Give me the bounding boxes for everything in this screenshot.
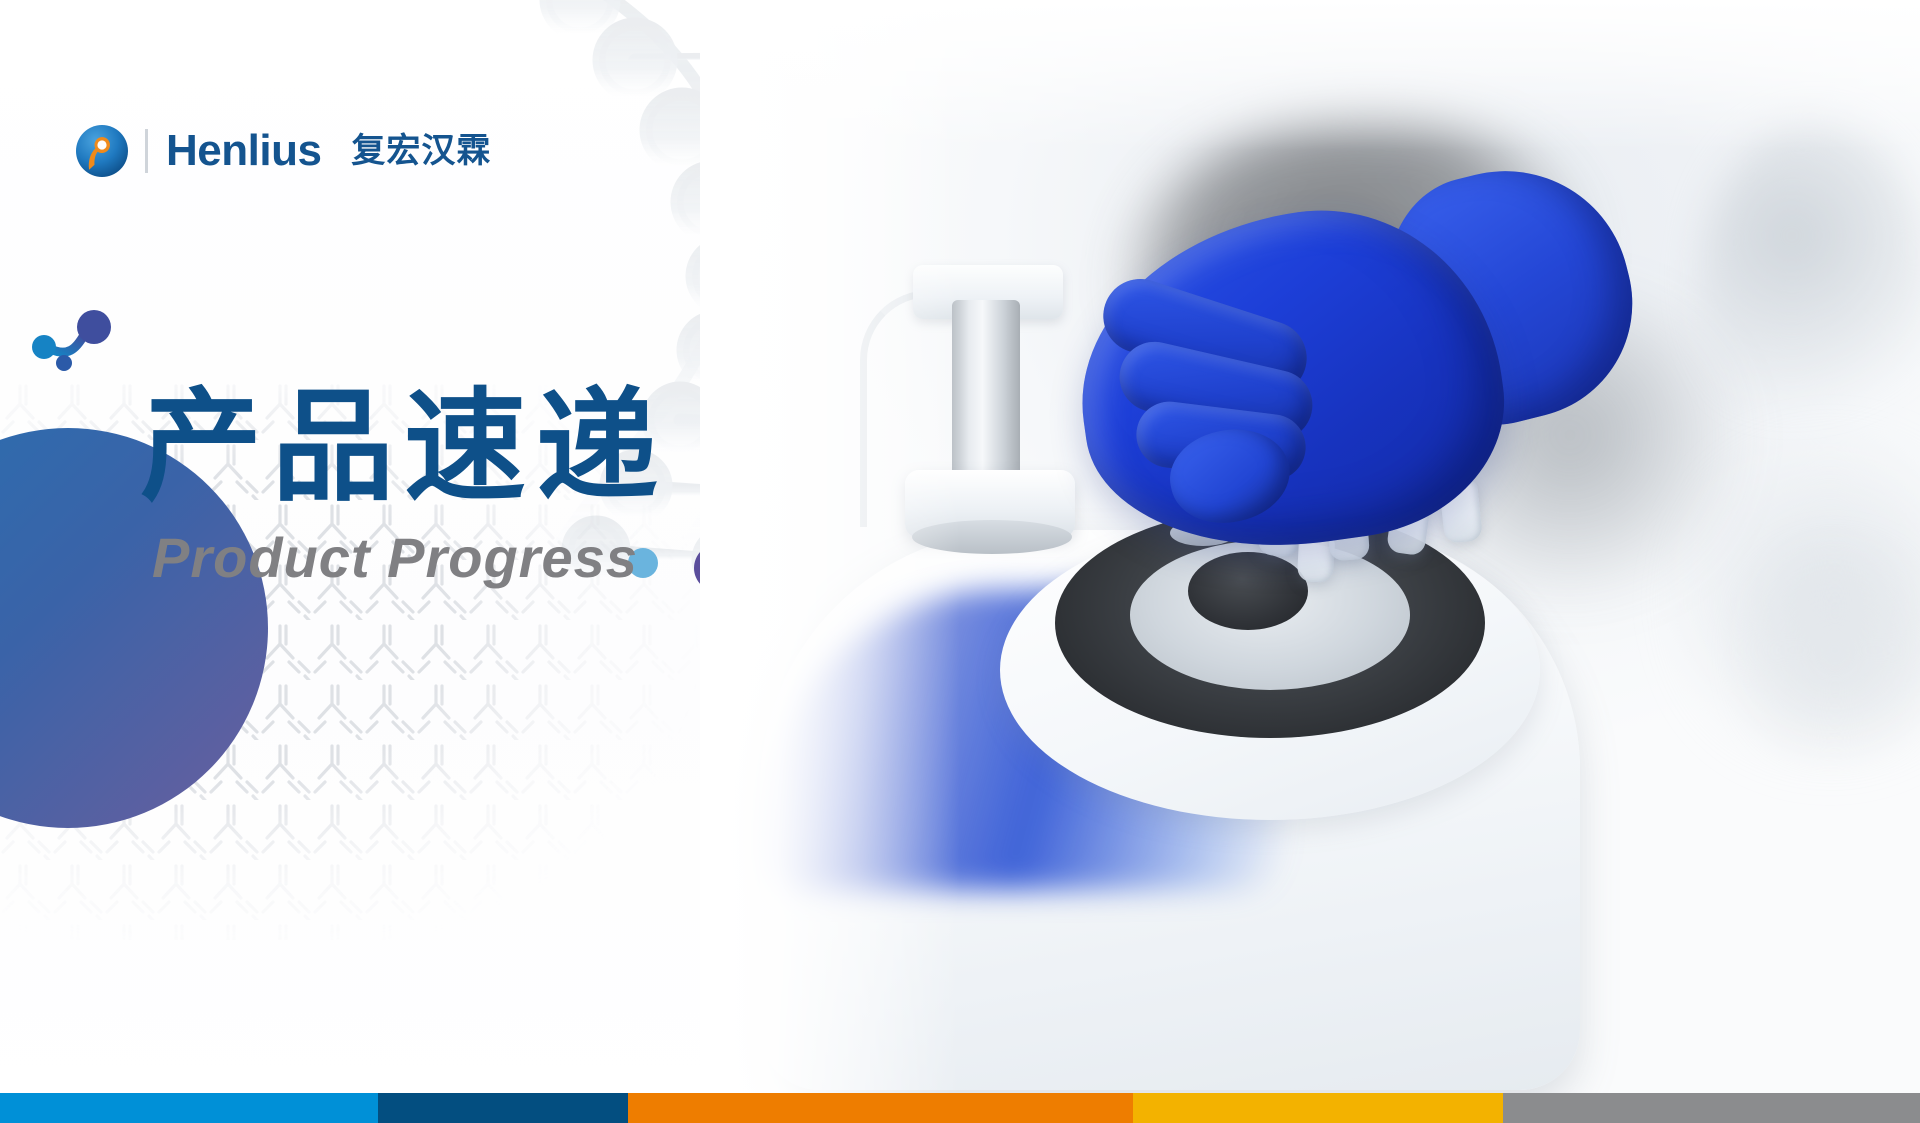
molecule-small-icon [28,305,138,385]
photo-bokeh-right-2 [1740,520,1920,780]
segment-dark-blue [378,1093,628,1123]
lab-centrifuge-photo [700,0,1920,1093]
centrifuge-rotor-hub [1188,552,1308,630]
instrument-column-rod [952,300,1020,495]
henlius-circle-mark-icon [75,124,129,178]
brand-logo[interactable]: Henlius 复宏汉霖 [75,124,491,178]
bottom-color-bar [0,1093,1920,1123]
logo-divider [145,129,148,173]
segment-orange [628,1093,1133,1123]
page-title-cn: 产品速递 [140,382,668,514]
logo-name-cn: 复宏汉霖 [351,134,491,168]
segment-gray [1503,1093,1920,1123]
segment-light-blue [0,1093,378,1123]
photo-bokeh-right-1 [1700,120,1920,450]
segment-yellow [1133,1093,1504,1123]
logo-name-en: Henlius [166,129,321,173]
photo-left-fade [700,0,960,1093]
page-subtitle-en: Product Progress [152,530,638,586]
photo-top-fade [700,0,1920,150]
product-progress-slide: Henlius 复宏汉霖 产品速递 Product Progress [0,0,1920,1123]
